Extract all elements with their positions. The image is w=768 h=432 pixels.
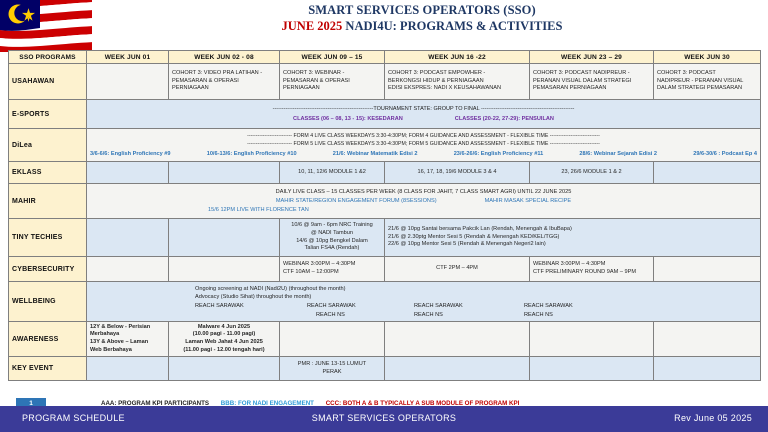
dilea-item-4: 23/6-26/6: English Proficiency #11 — [454, 150, 544, 158]
table-row-tiny-techies: TINY TECHIES 10/6 @ 9am - 6pm NRC Traini… — [9, 219, 761, 257]
dilea-item-2: 10/6-13/6: English Proficiency #10 — [207, 150, 297, 158]
schedule-page: SMART SERVICES OPERATORS (SSO) JUNE 2025… — [0, 0, 768, 432]
dilea-banner-form5: -------------------------- FORM 5 LIVE C… — [90, 140, 757, 148]
cell-line: WEBINAR 3:00PM – 4:30PM — [533, 261, 650, 269]
cell-keyevent-jun01 — [87, 357, 169, 381]
row-label-mahir: MAHIR — [9, 184, 87, 219]
row-label-tiny-techies: TINY TECHIES — [9, 219, 87, 257]
cell-line: Malware 4 Jun 2025 — [172, 324, 276, 332]
cell-line: PERAK — [283, 369, 381, 377]
cell-eklass-jun23-29: 23, 26/6 MODULE 1 & 2 — [530, 162, 654, 184]
cell-cyber-jun01 — [87, 257, 169, 282]
reach-sarawak: REACH SARAWAK — [414, 302, 524, 310]
cell-line: PEMASARAN & OPERASI — [172, 78, 276, 86]
cell-line: 13Y & Above – Laman — [90, 339, 165, 347]
row-label-awareness: AWARENESS — [9, 321, 87, 356]
cell-line: EDISI EKSPRES: NADI X KEUSAHAWANAN — [388, 85, 526, 93]
cell-cyber-jun30 — [654, 257, 761, 282]
cell-wellbeing-span: Ongoing screening at NADI (Nadi2U) (thro… — [87, 282, 761, 322]
table-row-dilea: DiLea -------------------------- FORM 4 … — [9, 129, 761, 162]
reach-sarawak: REACH SARAWAK — [195, 302, 307, 310]
cell-usahawan-jun23-29: COHORT 3: PODCAST NADIPREUR - PERANAN VI… — [530, 64, 654, 100]
cell-line: Merbahaya — [90, 331, 165, 339]
cell-line: WEBINAR 3:00PM – 4:30PM — [283, 261, 381, 269]
cell-usahawan-jun01 — [87, 64, 169, 100]
row-label-eklass: EKLASS — [9, 162, 87, 184]
dilea-banner-form4: -------------------------- FORM 4 LIVE C… — [90, 132, 757, 140]
cell-line: BERKONGSI HIDUP & PERNIAGAAN — [388, 78, 526, 86]
table-row-mahir: MAHIR DAILY LIVE CLASS – 15 CLASSES PER … — [9, 184, 761, 219]
schedule-table: SSO PROGRAMS WEEK JUN 01 WEEK JUN 02 - 0… — [8, 50, 761, 381]
table-row-eklass: EKLASS 10, 11, 12/6 MODULE 1 &2 16, 17, … — [9, 162, 761, 184]
table-row-key-event: KEY EVENT PMR : JUNE 13-15 LUMUT PERAK — [9, 357, 761, 381]
row-label-cybersecurity: CYBERSECURITY — [9, 257, 87, 282]
cell-line: 14/6 @ 10pg Bengkel Dalam — [283, 238, 381, 246]
cell-usahawan-jun09-15: COHORT 3: WEBINAR - PEMASARAN & OPERASI … — [280, 64, 385, 100]
cell-eklass-jun30 — [654, 162, 761, 184]
cell-line: NADIPREUR - PERANAN VISUAL — [657, 78, 757, 86]
cell-line: 10/6 @ 9am - 6pm NRC Training — [283, 222, 381, 230]
cell-line: @ NADI Tambun — [283, 230, 381, 238]
cell-awareness-jun01: 12Y & Below - Perisian Merbahaya 13Y & A… — [87, 321, 169, 356]
esports-classes-right: CLASSES (20-22, 27-29): PENSUILAN — [455, 115, 554, 123]
footer-center-label: SMART SERVICES OPERATORS — [0, 413, 768, 423]
cell-line: PEMASARAN & OPERASI — [283, 78, 381, 86]
cell-cyber-jun23-29: WEBINAR 3:00PM – 4:30PM CTF PRELIMINARY … — [530, 257, 654, 282]
cell-line: CTF PRELIMINARY ROUND 9AM – 9PM — [533, 269, 650, 277]
cell-eklass-jun16-22: 16, 17, 18, 19/6 MODULE 3 & 4 — [385, 162, 530, 184]
cell-line: PERNIAGAAN — [172, 85, 276, 93]
malaysia-flag-icon — [0, 0, 92, 52]
cell-eklass-jun02-08 — [169, 162, 280, 184]
cell-line: COHORT 3: WEBINAR - — [283, 70, 381, 78]
cell-line: COHORT 3: VIDEO PRA LATIHAN - — [172, 70, 276, 78]
cell-line: PERNIAGAAN — [283, 85, 381, 93]
table-row-awareness: AWARENESS 12Y & Below - Perisian Merbaha… — [9, 321, 761, 356]
wellbeing-line-1: Ongoing screening at NADI (Nadi2U) (thro… — [90, 285, 757, 293]
column-header-week-jun-01: WEEK JUN 01 — [87, 51, 169, 64]
footer-revision-label: Rev June 05 2025 — [674, 413, 752, 423]
cell-usahawan-jun16-22: COHORT 3: PODCAST EMPOWHER - BERKONGSI H… — [385, 64, 530, 100]
table-header-row: SSO PROGRAMS WEEK JUN 01 WEEK JUN 02 - 0… — [9, 51, 761, 64]
cell-line: PERANAN VISUAL DALAM STRATEGI — [533, 78, 650, 86]
dilea-item-3: 21/6: Webinar Matematik Edisi 2 — [333, 150, 418, 158]
cell-keyevent-jun30 — [654, 357, 761, 381]
cell-dilea-span: -------------------------- FORM 4 LIVE C… — [87, 129, 761, 162]
page-subtitle-month: JUNE 2025 — [282, 19, 346, 33]
cell-keyevent-jun16-22 — [385, 357, 530, 381]
wellbeing-week-1: REACH SARAWAK — [195, 302, 307, 318]
page-title: SMART SERVICES OPERATORS (SSO) — [92, 2, 752, 18]
dilea-item-1: 3/6-6/6: English Proficiency #9 — [90, 150, 171, 158]
cell-awareness-jun09-15 — [280, 321, 385, 356]
column-header-week-jun-30: WEEK JUN 30 — [654, 51, 761, 64]
cell-line: CTF 2PM – 4PM — [388, 265, 526, 273]
cell-line: COHORT 3: PODCAST EMPOWHER - — [388, 70, 526, 78]
mahir-line-3: 15/6 12PM LIVE WITH FLORENCE TAN — [90, 206, 757, 214]
cell-line: COHORT 3: PODCAST NADIPREUR - — [533, 70, 650, 78]
mahir-line-1: DAILY LIVE CLASS – 15 CLASSES PER WEEK (… — [90, 188, 757, 196]
cell-keyevent-jun23-29 — [530, 357, 654, 381]
reach-ns: REACH NS — [524, 311, 634, 319]
page-subtitle-rest: NADI4U: PROGRAMS & ACTIVITIES — [345, 19, 562, 33]
cell-tiny-jun02-08 — [169, 219, 280, 257]
cell-keyevent-jun09-15: PMR : JUNE 13-15 LUMUT PERAK — [280, 357, 385, 381]
wellbeing-line-2: Advocacy (Studio Sihat) throughout the m… — [90, 293, 757, 301]
mahir-forum: MAHIR STATE/REGION ENGAGEMENT FORUM (8SE… — [276, 197, 437, 205]
cell-line: COHORT 3: PODCAST — [657, 70, 757, 78]
cell-cyber-jun09-15: WEBINAR 3:00PM – 4:30PM CTF 10AM – 12:00… — [280, 257, 385, 282]
cell-awareness-jun23-29 — [530, 321, 654, 356]
wellbeing-week-3: REACH SARAWAK REACH NS — [414, 302, 524, 318]
cell-esports-span: ----------------------------------------… — [87, 100, 761, 129]
cell-line: DALAM STRATEGI PEMASARAN — [657, 85, 757, 93]
cell-line: (10.00 pagi - 11.00 pagi) — [172, 331, 276, 339]
cell-line: Web Berbahaya — [90, 347, 165, 355]
wellbeing-week-4: REACH SARAWAK REACH NS — [524, 302, 634, 318]
cell-line: PEMASARAN PERNIAGAAN — [533, 85, 650, 93]
column-header-sso-programs: SSO PROGRAMS — [9, 51, 87, 64]
cell-eklass-jun01 — [87, 162, 169, 184]
mahir-masak: MAHIR MASAK SPECIAL RECIPE — [485, 197, 572, 205]
row-label-key-event: KEY EVENT — [9, 357, 87, 381]
cell-usahawan-jun02-08: COHORT 3: VIDEO PRA LATIHAN - PEMASARAN … — [169, 64, 280, 100]
cell-keyevent-jun02-08 — [169, 357, 280, 381]
column-header-week-jun-09-15: WEEK JUN 09 – 15 — [280, 51, 385, 64]
cell-tiny-jun09-15: 10/6 @ 9am - 6pm NRC Training @ NADI Tam… — [280, 219, 385, 257]
cell-awareness-jun30 — [654, 321, 761, 356]
cell-awareness-jun16-22 — [385, 321, 530, 356]
row-label-esports: E-SPORTS — [9, 100, 87, 129]
cell-tiny-jun16-22: 21/6 @ 10pg Santai bersama Pakcik Lan (R… — [385, 219, 761, 257]
cell-line: Talian FS4A (Rendah) — [283, 245, 381, 253]
reach-ns: REACH NS — [414, 311, 524, 319]
reach-sarawak: REACH SARAWAK — [524, 302, 634, 310]
table-row-esports: E-SPORTS -------------------------------… — [9, 100, 761, 129]
dilea-item-6: 29/6-30/6 : Podcast Ep 4 — [693, 150, 757, 158]
column-header-week-jun-23-29: WEEK JUN 23 – 29 — [530, 51, 654, 64]
row-label-dilea: DiLea — [9, 129, 87, 162]
cell-cyber-jun02-08 — [169, 257, 280, 282]
wellbeing-week-2: REACH SARAWAK REACH NS — [307, 302, 414, 318]
esports-banner: ----------------------------------------… — [90, 105, 757, 113]
cell-line: 12Y & Below - Perisian — [90, 324, 165, 332]
cell-line: 22/6 @ 10pg Mentor Sesi 5 (Rendah & Mene… — [388, 241, 757, 249]
page-header: SMART SERVICES OPERATORS (SSO) JUNE 2025… — [92, 2, 752, 34]
cell-line: 21/6 @ 2.30ptg Mentor Sesi 5 (Rendah & M… — [388, 234, 757, 242]
cell-line: CTF 10AM – 12:00PM — [283, 269, 381, 277]
page-subtitle: JUNE 2025 NADI4U: PROGRAMS & ACTIVITIES — [92, 18, 752, 34]
dilea-item-5: 28/6: Webinar Sejarah Edisi 2 — [579, 150, 657, 158]
cell-eklass-jun09-15: 10, 11, 12/6 MODULE 1 &2 — [280, 162, 385, 184]
cell-line: Laman Web Jahat 4 Jun 2025 — [172, 339, 276, 347]
cell-mahir-span: DAILY LIVE CLASS – 15 CLASSES PER WEEK (… — [87, 184, 761, 219]
cell-tiny-jun01 — [87, 219, 169, 257]
column-header-week-jun-02-08: WEEK JUN 02 - 08 — [169, 51, 280, 64]
cell-usahawan-jun30: COHORT 3: PODCAST NADIPREUR - PERANAN VI… — [654, 64, 761, 100]
column-header-week-jun-16-22: WEEK JUN 16 -22 — [385, 51, 530, 64]
reach-ns: REACH NS — [307, 311, 414, 319]
footer-bar: PROGRAM SCHEDULE SMART SERVICES OPERATOR… — [0, 406, 768, 432]
table-row-cybersecurity: CYBERSECURITY WEBINAR 3:00PM – 4:30PM CT… — [9, 257, 761, 282]
row-label-usahawan: USAHAWAN — [9, 64, 87, 100]
cell-awareness-jun02-08: Malware 4 Jun 2025 (10.00 pagi - 11.00 p… — [169, 321, 280, 356]
reach-sarawak: REACH SARAWAK — [307, 302, 414, 310]
cell-cyber-jun16-22: CTF 2PM – 4PM — [385, 257, 530, 282]
esports-classes-left: CLASSES (06 – 08, 13 - 15): KESEDARAN — [293, 115, 403, 123]
row-label-wellbeing: WELLBEING — [9, 282, 87, 322]
cell-line: (11.00 pagi - 12.00 tengah hari) — [172, 347, 276, 355]
table-row-wellbeing: WELLBEING Ongoing screening at NADI (Nad… — [9, 282, 761, 322]
table-row-usahawan: USAHAWAN COHORT 3: VIDEO PRA LATIHAN - P… — [9, 64, 761, 100]
cell-line: 21/6 @ 10pg Santai bersama Pakcik Lan (R… — [388, 226, 757, 234]
cell-line: PMR : JUNE 13-15 LUMUT — [283, 361, 381, 369]
